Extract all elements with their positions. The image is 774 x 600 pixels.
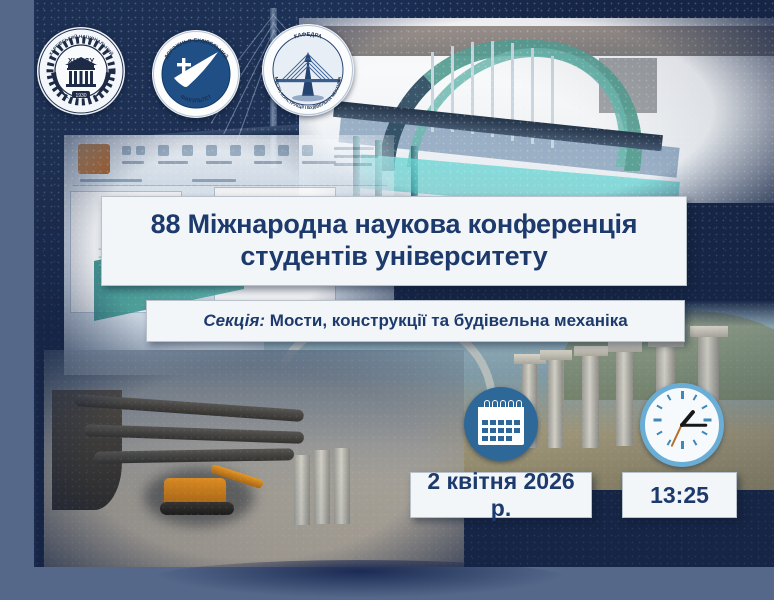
time-panel: 13:25 [622, 472, 737, 518]
conference-date: 2 квітня 2026 р. [411, 468, 591, 522]
title-line-1: 88 Міжнародна наукова конференція [151, 209, 638, 241]
title-line-2: студентів університету [151, 241, 638, 273]
section-panel: Секція: Мости, конструкції та будівельна… [146, 300, 685, 342]
frame-left-border [0, 0, 34, 600]
clock-minute-hand [682, 424, 707, 427]
university-year: 1930 [75, 93, 86, 99]
university-abbr: ХНАДУ [68, 56, 95, 65]
department-emblem: КАФЕДРА МОСТИ, КОНСТРУКЦІЇ І БУДІВЕЛЬНА … [262, 24, 354, 116]
conference-slide: ХНАДУ 1930 ХАРКІВСЬКИЙ НАЦІОНАЛЬНИЙ [0, 0, 774, 600]
faculty-emblem: ДОРОЖНЬО-БУДІВЕЛЬНИЙ ФАКУЛЬТЕТ [152, 30, 240, 118]
conference-time: 13:25 [640, 482, 719, 509]
calendar-icon [464, 387, 538, 461]
section-name: Мости, конструкції та будівельна механік… [270, 311, 628, 330]
calendar-body [478, 407, 524, 445]
drop-shadow-reflection [150, 560, 570, 598]
university-emblem-graphic: ХНАДУ 1930 ХАРКІВСЬКИЙ НАЦІОНАЛЬНИЙ [37, 27, 125, 115]
emblem-row: ХНАДУ 1930 ХАРКІВСЬКИЙ НАЦІОНАЛЬНИЙ [0, 0, 740, 130]
page-title: 88 Міжнародна наукова конференція студен… [141, 209, 648, 273]
faculty-emblem-graphic: ДОРОЖНЬО-БУДІВЕЛЬНИЙ ФАКУЛЬТЕТ [152, 30, 240, 118]
clock-center-pin [680, 423, 684, 427]
department-emblem-graphic: КАФЕДРА МОСТИ, КОНСТРУКЦІЇ І БУДІВЕЛЬНА … [262, 24, 354, 116]
clock-icon [640, 383, 724, 467]
university-emblem: ХНАДУ 1930 ХАРКІВСЬКИЙ НАЦІОНАЛЬНИЙ [37, 27, 125, 115]
conference-title-panel: 88 Міжнародна наукова конференція студен… [101, 196, 687, 286]
section-label: Секція: [203, 311, 269, 330]
date-panel: 2 квітня 2026 р. [410, 472, 592, 518]
